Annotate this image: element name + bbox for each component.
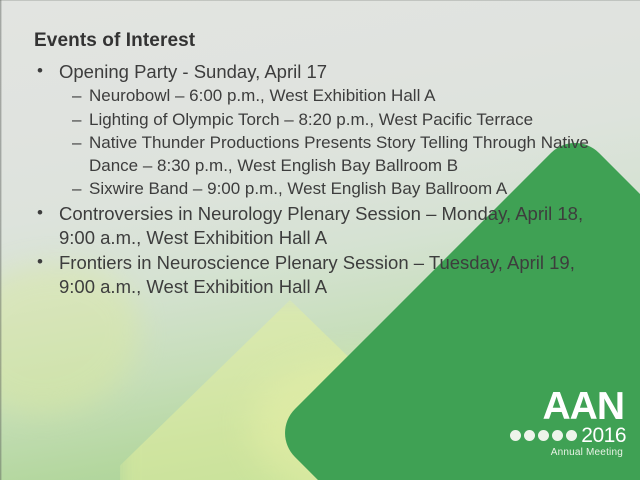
bullet-text: Opening Party - Sunday, April 17 xyxy=(59,60,614,84)
logo-acronym: AAN xyxy=(490,390,626,424)
bullet-text: Controversies in Neurology Plenary Sessi… xyxy=(59,202,614,250)
bullet-item: –Neurobowl – 6:00 p.m., West Exhibition … xyxy=(72,85,614,108)
dash-marker-icon: – xyxy=(72,132,89,155)
bullet-item: –Native Thunder Productions Presents Sto… xyxy=(72,132,614,177)
dash-marker-icon: – xyxy=(72,178,89,201)
presentation-slide: AAN 2016 Annual Meeting Events of Intere… xyxy=(0,0,640,480)
bullet-item: –Sixwire Band – 9:00 p.m., West English … xyxy=(72,178,614,201)
bullet-item: –Lighting of Olympic Torch – 8:20 p.m., … xyxy=(72,109,614,132)
bullet-text: Neurobowl – 6:00 p.m., West Exhibition H… xyxy=(89,85,614,108)
bullet-marker-icon: • xyxy=(34,202,59,225)
bullet-item: •Controversies in Neurology Plenary Sess… xyxy=(34,202,614,250)
logo-middle-row: 2016 xyxy=(490,425,626,446)
frame-edge-left xyxy=(0,0,2,480)
dash-marker-icon: – xyxy=(72,85,89,108)
dash-marker-icon: – xyxy=(72,109,89,132)
bullet-item: •Opening Party - Sunday, April 17 xyxy=(34,60,614,84)
bullet-list: •Opening Party - Sunday, April 17–Neurob… xyxy=(34,60,614,300)
logo-year: 2016 xyxy=(581,425,626,446)
logo-tagline: Annual Meeting xyxy=(490,447,626,458)
page-title: Events of Interest xyxy=(34,30,195,52)
frame-edge-top xyxy=(0,0,640,1)
bullet-item: •Frontiers in Neuroscience Plenary Sessi… xyxy=(34,251,614,299)
bullet-text: Native Thunder Productions Presents Stor… xyxy=(89,132,614,177)
bullet-text: Sixwire Band – 9:00 p.m., West English B… xyxy=(89,178,614,201)
bullet-text: Lighting of Olympic Torch – 8:20 p.m., W… xyxy=(89,109,614,132)
bullet-marker-icon: • xyxy=(34,60,59,83)
aan-logo: AAN 2016 Annual Meeting xyxy=(490,390,626,458)
bullet-text: Frontiers in Neuroscience Plenary Sessio… xyxy=(59,251,614,299)
bullet-marker-icon: • xyxy=(34,251,59,274)
logo-dots-icon xyxy=(510,430,577,441)
